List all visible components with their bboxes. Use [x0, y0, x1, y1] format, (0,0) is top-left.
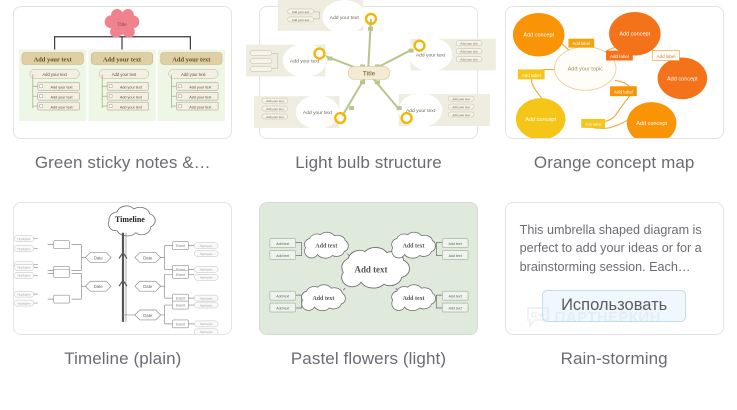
template-title: Rain-storming: [561, 349, 668, 369]
svg-text:Add your topic: Add your topic: [567, 66, 603, 72]
svg-text:Date: Date: [143, 313, 153, 318]
svg-text:Add your text: Add your text: [34, 56, 73, 63]
svg-text:Add your text: Add your text: [120, 96, 143, 100]
svg-text:Add text: Add text: [276, 254, 289, 258]
svg-text:Add text: Add text: [449, 242, 462, 246]
svg-text:Add your text: Add your text: [452, 105, 470, 109]
svg-text:Timeline: Timeline: [115, 215, 145, 224]
svg-text:Date: Date: [94, 284, 104, 289]
svg-text:Event: Event: [176, 273, 185, 277]
svg-text:Highlights: Highlights: [200, 296, 214, 300]
svg-text:Add your text: Add your text: [112, 72, 137, 77]
template-title: Green sticky notes &…: [35, 153, 211, 173]
svg-text:Add label: Add label: [521, 73, 540, 78]
timeline-diagram: Timeline: [14, 203, 231, 335]
svg-text:Add your text: Add your text: [190, 106, 213, 110]
svg-text:Add your text: Add your text: [190, 86, 213, 90]
svg-text:Add label: Add label: [614, 90, 633, 95]
highlight-label: Highlights Highlights Highlights Highlig…: [18, 237, 214, 334]
svg-text:Add concept: Add concept: [525, 117, 556, 123]
svg-text:Add your text: Add your text: [266, 107, 284, 111]
svg-text:Highlights: Highlights: [18, 247, 32, 251]
green-sticky-diagram: Title Add your text Add your text: [14, 7, 231, 139]
svg-text:Add your text: Add your text: [292, 18, 310, 22]
svg-text:Title: Title: [118, 23, 128, 28]
template-hover-overlay: This umbrella shaped diagram is perfect …: [506, 203, 723, 334]
use-template-button[interactable]: Использовать: [542, 290, 686, 322]
svg-text:Add your text: Add your text: [266, 115, 284, 119]
svg-text:Add text: Add text: [449, 295, 462, 299]
template-cell-green-sticky-notes[interactable]: Title Add your text Add your text: [0, 0, 246, 196]
template-thumbnail-light-bulb-structure[interactable]: Add your text Add your text Add your tex…: [259, 6, 478, 139]
svg-text:Add text: Add text: [403, 296, 425, 302]
svg-text:Add text: Add text: [276, 307, 289, 311]
svg-text:Add text: Add text: [312, 296, 334, 302]
pastel-flowers-diagram: Add text Add text Add text Add text Add …: [260, 203, 477, 335]
root-node: Timeline: [109, 206, 156, 236]
svg-text:Add your text: Add your text: [120, 86, 143, 90]
template-gallery-grid: Title Add your text Add your text: [0, 0, 737, 410]
template-thumbnail-green-sticky-notes[interactable]: Title Add your text Add your text: [13, 6, 232, 139]
svg-text:Add your text: Add your text: [290, 58, 320, 64]
template-thumbnail-timeline-plain[interactable]: Timeline: [13, 202, 232, 335]
svg-text:Add your text: Add your text: [330, 15, 360, 21]
template-cell-pastel-flowers-light[interactable]: Add text Add text Add text Add text Add …: [246, 196, 492, 400]
svg-text:Add your text: Add your text: [292, 10, 310, 14]
svg-text:Add your text: Add your text: [181, 72, 206, 77]
template-cell-light-bulb-structure[interactable]: Add your text Add your text Add your tex…: [246, 0, 492, 196]
svg-text:Add concept: Add concept: [667, 76, 698, 82]
svg-text:Add your text: Add your text: [173, 56, 212, 63]
svg-text:Highlights: Highlights: [200, 268, 214, 272]
svg-text:Add your text: Add your text: [103, 56, 142, 63]
branch-panel: Add your text Add your text Add your tex…: [19, 50, 225, 121]
svg-text:Add label: Add label: [610, 54, 629, 59]
svg-text:Highlights: Highlights: [200, 322, 214, 326]
svg-text:Event: Event: [176, 322, 185, 326]
orange-concept-diagram: Add concept Add concept Add concept Add …: [506, 7, 723, 139]
svg-text:Add your text: Add your text: [51, 96, 74, 100]
template-thumbnail-rain-storming[interactable]: This umbrella shaped diagram is perfect …: [505, 202, 724, 335]
svg-text:Highlights: Highlights: [18, 266, 32, 270]
svg-text:Event: Event: [176, 244, 185, 248]
template-title: Light bulb structure: [295, 153, 442, 173]
svg-text:Add text: Add text: [276, 242, 289, 246]
svg-text:Highlights: Highlights: [200, 252, 214, 256]
svg-text:Add your text: Add your text: [460, 50, 478, 54]
svg-text:Add text: Add text: [449, 254, 462, 258]
svg-text:Add your text: Add your text: [190, 96, 213, 100]
svg-text:Add your text: Add your text: [452, 97, 470, 101]
svg-text:Date: Date: [143, 284, 153, 289]
svg-text:Add text: Add text: [355, 264, 388, 274]
svg-text:Add your text: Add your text: [43, 72, 68, 77]
svg-text:Highlights: Highlights: [18, 274, 32, 278]
svg-text:Add text: Add text: [276, 295, 289, 299]
svg-text:Highlights: Highlights: [18, 292, 32, 296]
svg-text:Event: Event: [176, 297, 185, 301]
template-title: Orange concept map: [534, 153, 695, 173]
root-node: Title: [105, 9, 140, 38]
svg-text:Highlights: Highlights: [200, 330, 214, 334]
svg-text:Add your text: Add your text: [51, 106, 74, 110]
svg-text:Add your text: Add your text: [266, 99, 284, 103]
svg-text:Add your text: Add your text: [51, 86, 74, 90]
svg-text:Add label: Add label: [572, 41, 589, 46]
svg-text:Add your text: Add your text: [406, 108, 436, 114]
svg-text:Highlights: Highlights: [200, 276, 214, 280]
svg-text:Add concept: Add concept: [619, 32, 650, 38]
template-title: Timeline (plain): [64, 349, 181, 369]
svg-text:Add concept: Add concept: [523, 33, 554, 39]
template-title: Pastel flowers (light): [291, 349, 446, 369]
svg-text:Add text: Add text: [403, 244, 425, 250]
svg-text:Highlights: Highlights: [18, 301, 32, 305]
template-description: This umbrella shaped diagram is perfect …: [520, 221, 709, 276]
template-cell-orange-concept-map[interactable]: Add concept Add concept Add concept Add …: [491, 0, 737, 196]
svg-text:Highlights: Highlights: [18, 237, 32, 241]
svg-text:Highlights: Highlights: [200, 244, 214, 248]
svg-text:Date: Date: [143, 255, 153, 260]
svg-text:Date: Date: [94, 255, 104, 260]
svg-text:Add your text: Add your text: [303, 110, 333, 116]
template-thumbnail-pastel-flowers-light[interactable]: Add text Add text Add text Add text Add …: [259, 202, 478, 335]
svg-text:Add your text: Add your text: [460, 42, 478, 46]
template-cell-rain-storming[interactable]: This umbrella shaped diagram is perfect …: [491, 196, 737, 400]
svg-text:Add text: Add text: [449, 307, 462, 311]
svg-text:Add label: Add label: [585, 121, 602, 126]
svg-text:Add label: Add label: [656, 54, 675, 59]
svg-text:Event: Event: [176, 304, 185, 308]
svg-text:Add concept: Add concept: [636, 121, 667, 127]
light-bulb-diagram: Add your text Add your text Add your tex…: [260, 7, 477, 139]
svg-text:Add your text: Add your text: [460, 58, 478, 62]
svg-text:Add text: Add text: [315, 244, 337, 250]
template-thumbnail-orange-concept-map[interactable]: Add concept Add concept Add concept Add …: [505, 6, 724, 139]
template-cell-timeline-plain[interactable]: Timeline: [0, 196, 246, 400]
timeline-branch: [32, 239, 194, 324]
svg-text:Title: Title: [363, 71, 376, 77]
svg-text:Highlights: Highlights: [200, 303, 214, 307]
root-node: Title: [348, 66, 390, 79]
svg-text:Add your text: Add your text: [120, 106, 143, 110]
svg-text:Add your text: Add your text: [452, 113, 470, 117]
svg-text:Add your text: Add your text: [416, 53, 446, 59]
